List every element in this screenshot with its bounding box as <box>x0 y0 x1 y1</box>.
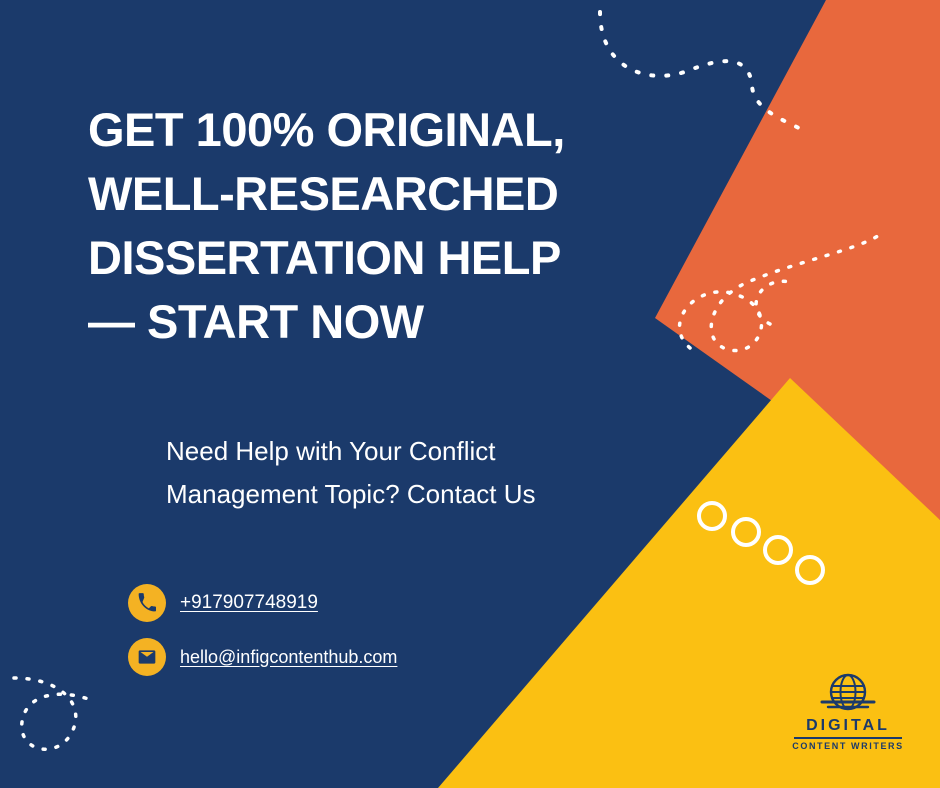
email-address[interactable]: hello@infigcontenthub.com <box>180 647 397 668</box>
envelope-icon <box>128 638 166 676</box>
phone-number[interactable]: +917907748919 <box>180 592 318 614</box>
promo-poster: GET 100% ORIGINAL, WELL-RESEARCHED DISSE… <box>0 0 940 788</box>
dotted-loops-right <box>680 232 884 351</box>
logo-secondary-text: CONTENT WRITERS <box>783 741 913 751</box>
contact-row-phone[interactable]: +917907748919 <box>128 584 568 622</box>
contact-block: +917907748919 hello@infigcontenthub.com <box>128 584 568 692</box>
orange-wedge <box>660 0 940 518</box>
phone-icon <box>128 584 166 622</box>
logo-divider <box>794 737 902 739</box>
contact-row-email[interactable]: hello@infigcontenthub.com <box>128 638 568 676</box>
orange-wedge-2 <box>655 0 940 520</box>
dotted-squiggle-bottom-left <box>14 678 96 749</box>
headline: GET 100% ORIGINAL, WELL-RESEARCHED DISSE… <box>88 98 648 354</box>
globe-icon <box>818 672 878 716</box>
circle-arc <box>699 503 823 583</box>
logo-primary-text: DIGITAL <box>783 717 913 735</box>
brand-logo: DIGITAL CONTENT WRITERS <box>783 672 913 751</box>
subheadline: Need Help with Your Conflict Management … <box>166 430 646 516</box>
